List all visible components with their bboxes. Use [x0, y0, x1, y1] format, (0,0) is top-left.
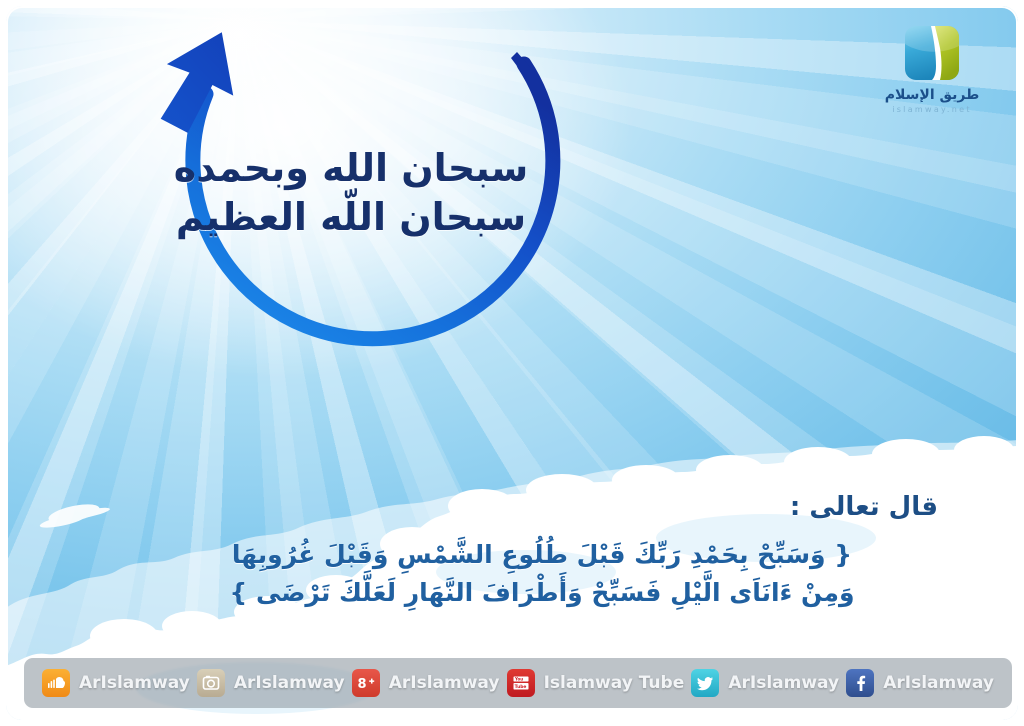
youtube-icon: You Tube: [507, 669, 535, 697]
social-label: Islamway Tube: [544, 673, 685, 693]
verse-line-2: وَمِنْ ءَانَاَى الَّيْلِ فَسَبِّحْ وَأَط…: [132, 574, 952, 612]
svg-text:8: 8: [357, 677, 366, 692]
instagram-icon: [197, 669, 225, 697]
social-label: ArIslamway: [79, 673, 190, 693]
islamway-logo[interactable]: طريق الإسلام islamway.net: [868, 24, 996, 114]
soundcloud-icon: [42, 669, 70, 697]
social-link-instagram[interactable]: ArIslamway: [197, 669, 345, 697]
logo-name-arabic: طريق الإسلام: [868, 88, 996, 103]
sky-background: سبحان الله وبحمده سبحان اللّه العظيم: [6, 6, 1018, 720]
social-link-facebook[interactable]: ArIslamway: [846, 669, 994, 697]
googleplus-icon: 8: [352, 669, 380, 697]
social-label: ArIslamway: [883, 673, 994, 693]
social-link-googleplus[interactable]: 8 ArIslamway: [352, 669, 500, 697]
poster-canvas: سبحان الله وبحمده سبحان اللّه العظيم: [0, 0, 1024, 726]
social-link-twitter[interactable]: ArIslamway: [691, 669, 839, 697]
social-label: ArIslamway: [728, 673, 839, 693]
social-link-youtube[interactable]: You Tube Islamway Tube: [507, 669, 685, 697]
svg-text:You: You: [514, 677, 523, 682]
social-label: ArIslamway: [389, 673, 500, 693]
verse-block: قال تعالى : { وَسَبِّحْ بِحَمْدِ رَبِّكَ…: [132, 492, 952, 612]
verse-intro: قال تعالى :: [132, 492, 952, 522]
dhikr-line-2: سبحان اللّه العظيم: [156, 193, 546, 242]
svg-text:Tube: Tube: [514, 684, 526, 690]
facebook-icon: [846, 669, 874, 697]
verse-line-1: { وَسَبِّحْ بِحَمْدِ رَبِّكَ قَبْلَ طُلُ…: [132, 536, 952, 574]
social-links-bar: ArIslamway ArIslamway 8: [24, 658, 1012, 708]
twitter-icon: [691, 669, 719, 697]
islamway-path-logo-icon: [903, 24, 961, 82]
logo-name-english: islamway.net: [868, 105, 996, 114]
dhikr-line-1: سبحان الله وبحمده: [174, 146, 528, 190]
social-link-soundcloud[interactable]: ArIslamway: [42, 669, 190, 697]
social-label: ArIslamway: [234, 673, 345, 693]
dhikr-text: سبحان الله وبحمده سبحان اللّه العظيم: [156, 144, 546, 243]
